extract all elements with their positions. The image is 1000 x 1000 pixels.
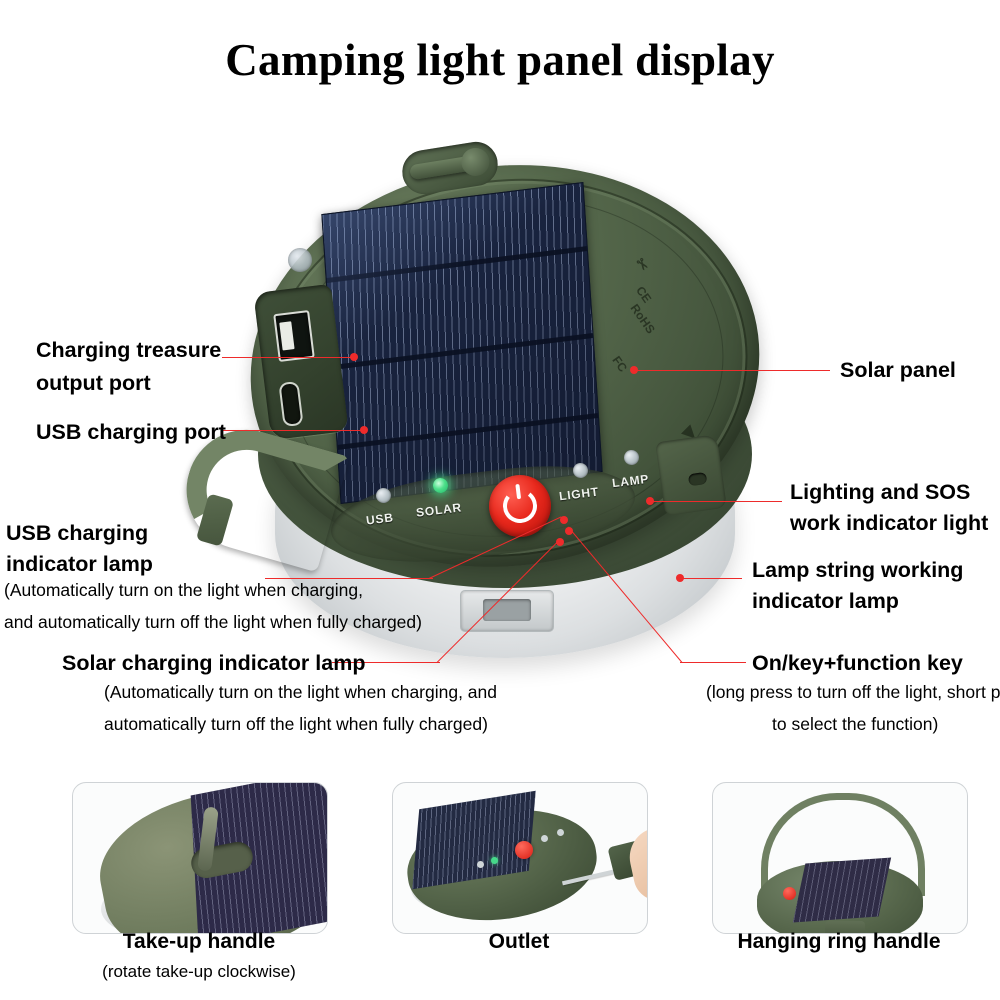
label-lighting-sos-line1: Lighting and SOS [790, 477, 970, 508]
caption-hanging-ring-handle: Hanging ring handle [712, 930, 966, 954]
side-clip-handle[interactable] [655, 434, 727, 516]
thumbnail-outlet-art [393, 783, 647, 933]
leader-dot-power-key [565, 527, 573, 535]
leader-dot-solar-indicator [556, 538, 564, 546]
note-usb-indicator-line2: and automatically turn off the light whe… [4, 606, 422, 638]
t2-usb-led [477, 861, 484, 868]
note-solar-indicator-line1: (Automatically turn on the light when ch… [104, 676, 497, 708]
t3-solar-panel [793, 857, 891, 922]
caption-take-up-handle: Take-up handle [72, 930, 326, 954]
certification-marks: ✂ CE RoHS FC ▶ [589, 233, 726, 397]
leader-dot-lighting-sos [646, 497, 654, 505]
swing-out-handle[interactable] [186, 434, 336, 554]
label-charging-treasure-line2: output port [36, 368, 151, 399]
t2-lamp-led [557, 829, 564, 836]
note-take-up-handle: (rotate take-up clockwise) [49, 962, 349, 982]
leader-dot-usb-indicator [560, 516, 568, 524]
label-lighting-sos-line2: work indicator light [790, 508, 988, 539]
note-power-key-line1: (long press to turn off the light, short… [706, 676, 1000, 708]
label-lamp-string-line2: indicator lamp [752, 586, 899, 617]
t3-power-button [783, 887, 796, 900]
t2-power-button [515, 841, 533, 859]
t2-solar-led [491, 857, 498, 864]
leader-line-lamp-string [680, 578, 742, 579]
leader-dot-solar-panel [630, 366, 638, 374]
leader-dot-lamp-string [676, 574, 684, 582]
note-solar-indicator-line2: automatically turn off the light when fu… [104, 708, 488, 740]
label-solar-indicator: Solar charging indicator lamp [62, 648, 365, 679]
infographic-canvas: Camping light panel display [0, 0, 1000, 1000]
screw-dot-icon [288, 248, 312, 272]
caption-outlet: Outlet [392, 930, 646, 954]
label-power-key: On/key+function key [752, 648, 963, 679]
usb-a-output-port[interactable] [273, 310, 315, 362]
label-charging-treasure-line1: Charging treasure [36, 335, 221, 366]
thumbnail-hanging-ring-handle[interactable] [712, 782, 968, 934]
leader-line-power-key [680, 662, 746, 663]
leader-line-charging-treasure [222, 357, 354, 358]
label-solar-panel: Solar panel [840, 355, 956, 386]
rohs-mark: RoHS [628, 301, 658, 336]
page-title: Camping light panel display [0, 34, 1000, 86]
thumbnail-take-up-handle-art [73, 783, 327, 933]
label-lamp-string-line1: Lamp string working [752, 555, 963, 586]
solar-panel [321, 182, 602, 504]
label-usb-charging-port: USB charging port [36, 417, 226, 448]
note-usb-indicator-line1: (Automatically turn on the light when ch… [4, 574, 363, 606]
solar-panel-glare [322, 183, 601, 503]
t2-light-led [541, 835, 548, 842]
thumbnail-hanging-ring-handle-art [713, 783, 967, 933]
thumbnail-take-up-handle[interactable] [72, 782, 328, 934]
note-power-key-line2: to select the function) [772, 708, 938, 740]
label-usb-indicator-line1: USB charging [6, 518, 148, 549]
power-icon [501, 487, 539, 525]
fcc-mark: FC [609, 353, 630, 374]
leader-dot-charging-treasure [350, 353, 358, 361]
thumbnail-outlet[interactable] [392, 782, 648, 934]
leader-line-usb-port [222, 430, 364, 431]
leader-line-lighting-sos [650, 501, 782, 502]
leader-line-solar-panel [634, 370, 830, 371]
leader-dot-usb-port [360, 426, 368, 434]
